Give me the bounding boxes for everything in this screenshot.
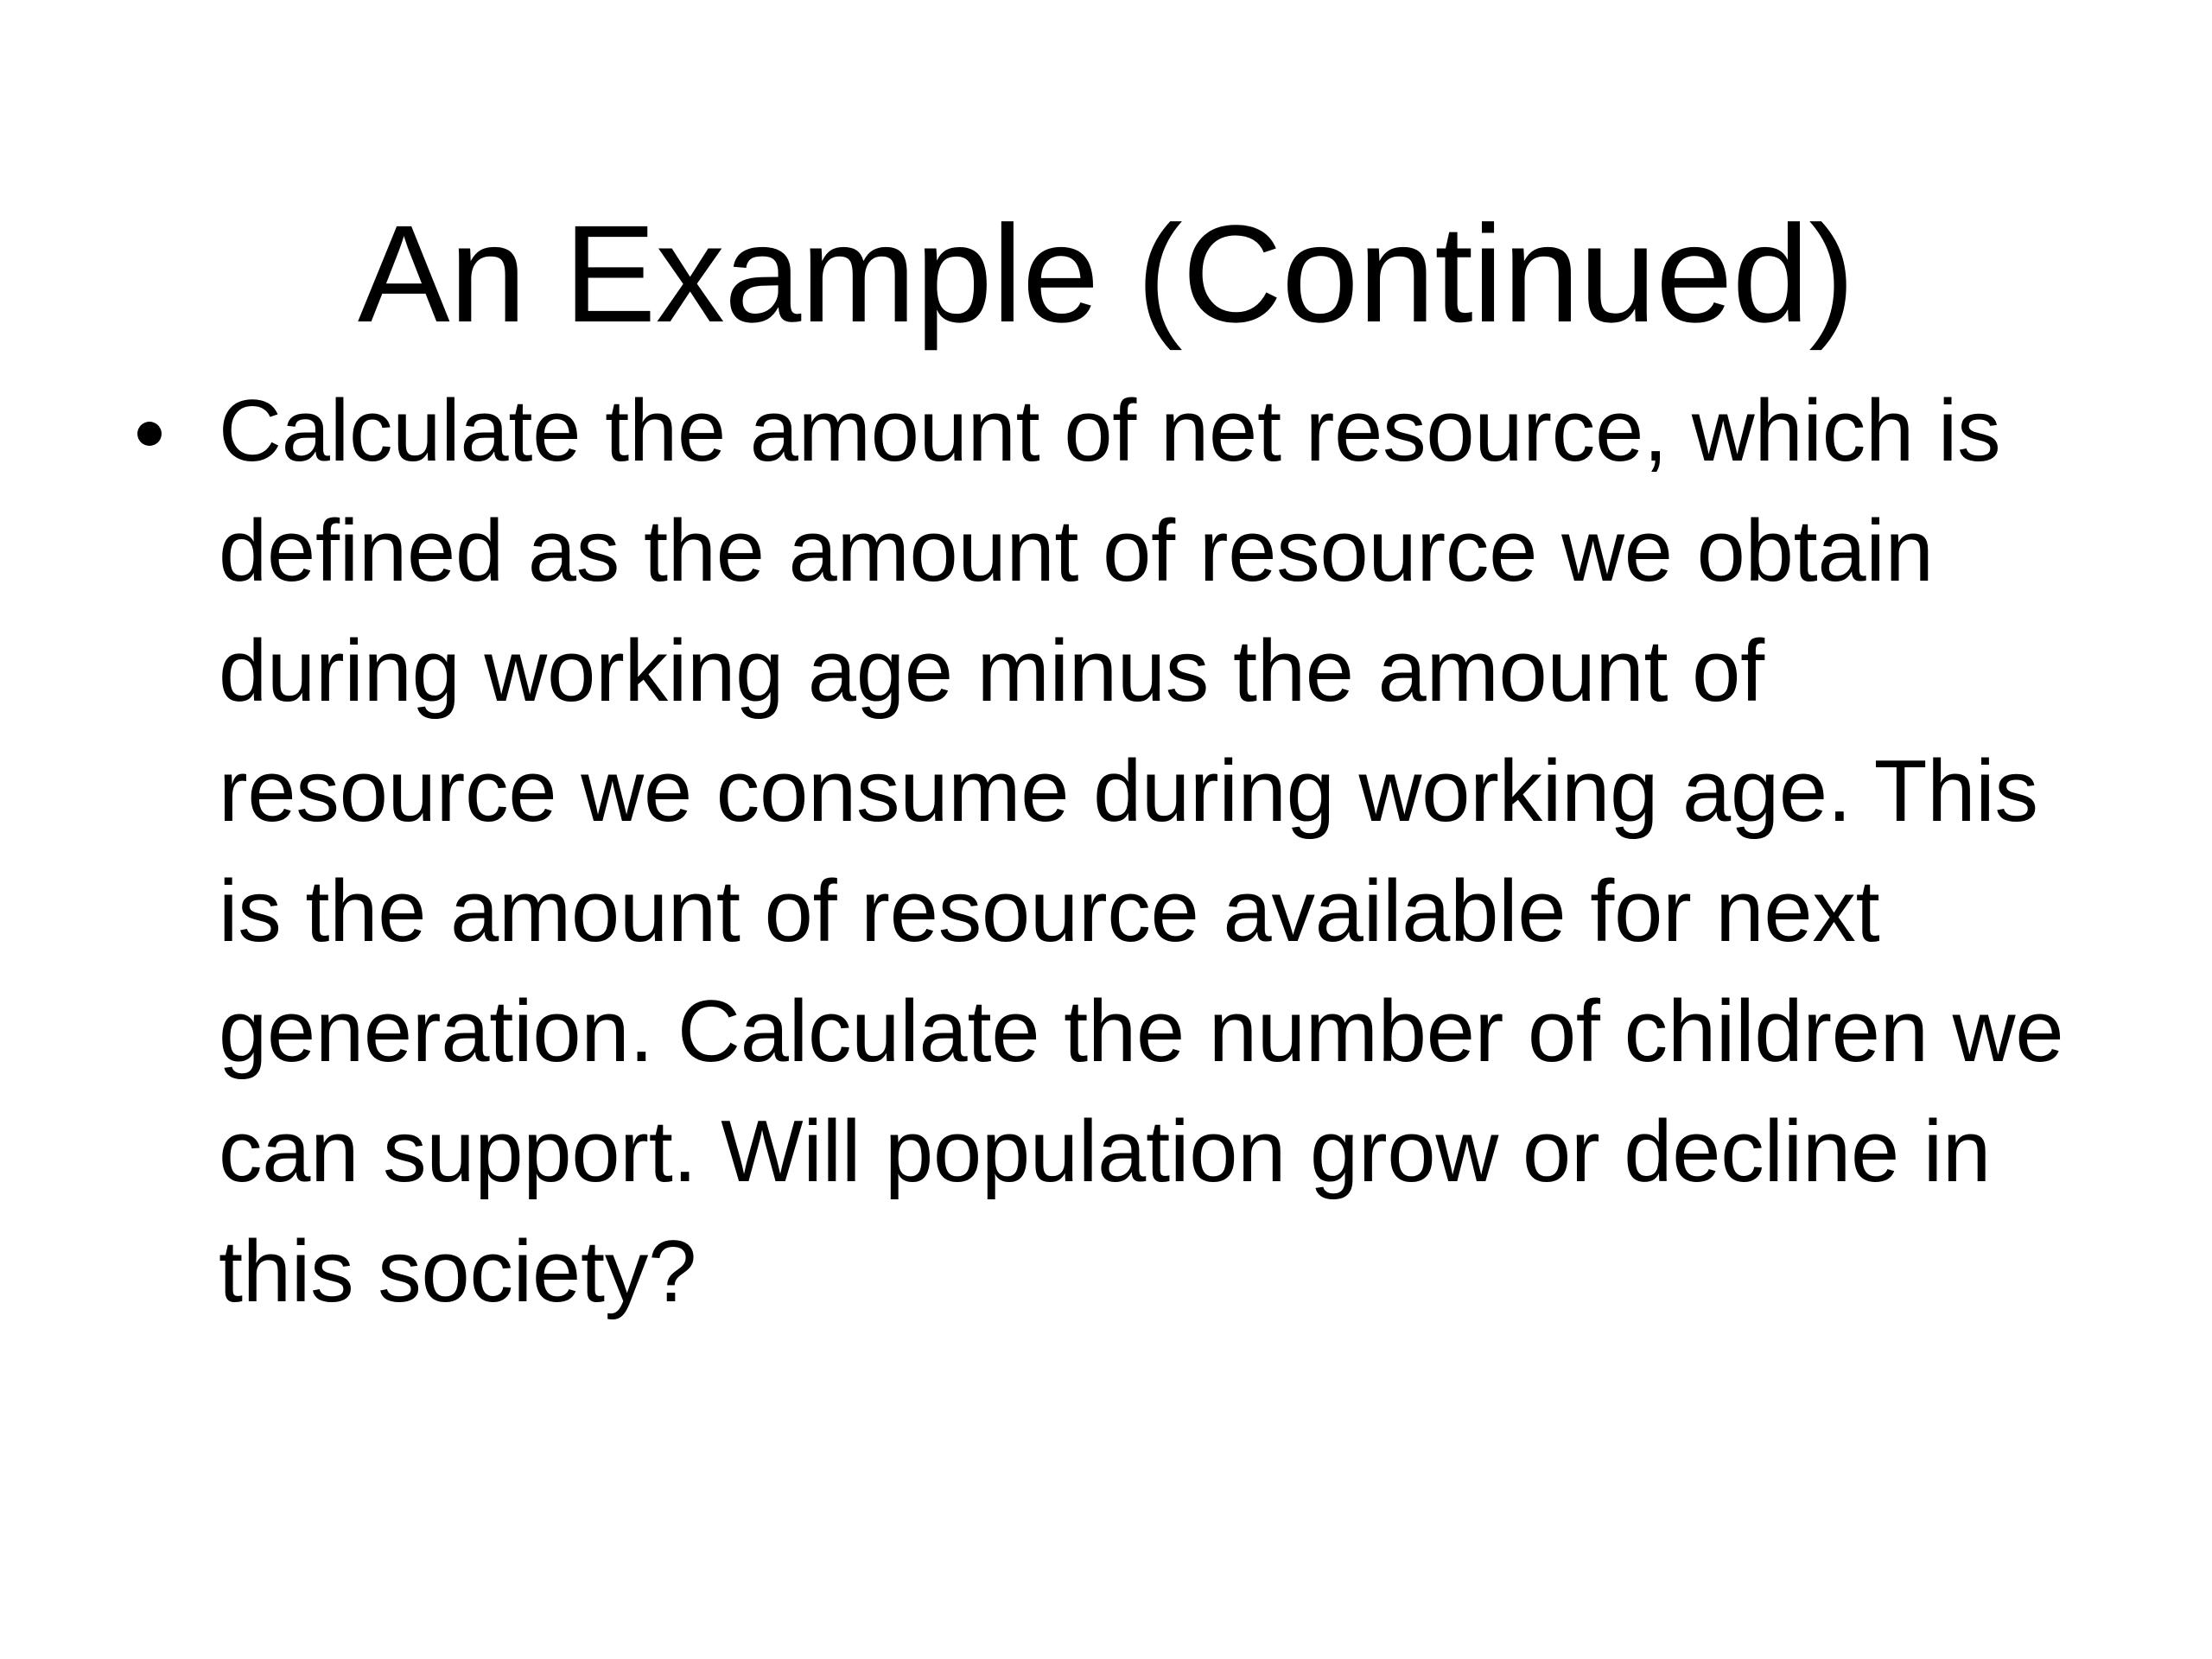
slide-title: An Example (Continued): [0, 201, 2212, 346]
slide-body-content: Calculate the amount of net resource, wh…: [130, 372, 2117, 1332]
bullet-dot-icon: [137, 422, 162, 446]
bullet-item-text: Calculate the amount of net resource, wh…: [219, 372, 2094, 1332]
presentation-slide: An Example (Continued) Calculate the amo…: [0, 0, 2212, 1659]
bullet-list-item: Calculate the amount of net resource, wh…: [130, 372, 2094, 1332]
